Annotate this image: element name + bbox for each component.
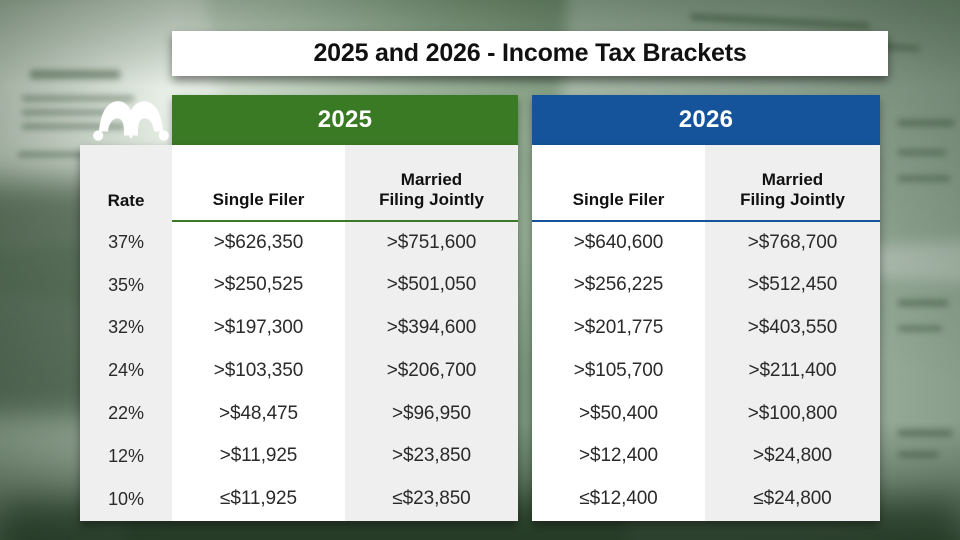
table-row: 24% >$103,350 >$206,700: [80, 349, 518, 392]
table-header-row: Rate Single Filer Married Filing Jointly: [80, 145, 518, 221]
cell-married-filing-jointly: >$403,550: [705, 307, 880, 350]
cell-single-filer: >$48,475: [172, 392, 345, 435]
cell-married-filing-jointly: >$96,950: [345, 392, 518, 435]
cell-married-filing-jointly: >$23,850: [345, 435, 518, 478]
table-header-row: Single Filer Married Filing Jointly: [532, 145, 880, 221]
cell-rate: 24%: [80, 349, 172, 392]
cell-single-filer: >$256,225: [532, 264, 705, 307]
cell-rate: 12%: [80, 435, 172, 478]
table-row: >$640,600 >$768,700: [532, 221, 880, 264]
cell-rate: 10%: [80, 478, 172, 521]
year-label-2025: 2025: [318, 106, 373, 134]
cell-married-filing-jointly: >$394,600: [345, 307, 518, 350]
tax-bracket-table-2025: Rate Single Filer Married Filing Jointly…: [80, 145, 518, 521]
cell-single-filer: ≤$11,925: [172, 478, 345, 521]
column-header-married-filing-jointly-2025: Married Filing Jointly: [345, 145, 518, 221]
cell-married-filing-jointly: >$100,800: [705, 392, 880, 435]
table-row: ≤$12,400 ≤$24,800: [532, 478, 880, 521]
cell-married-filing-jointly: >$751,600: [345, 221, 518, 264]
cell-rate: 35%: [80, 264, 172, 307]
cell-single-filer: >$103,350: [172, 349, 345, 392]
cell-married-filing-jointly: ≤$23,850: [345, 478, 518, 521]
cell-single-filer: >$12,400: [532, 435, 705, 478]
year-label-2026: 2026: [679, 106, 734, 134]
motley-fool-jester-cap-logo: [89, 98, 172, 146]
column-header-married-line1: Married: [401, 170, 462, 189]
column-header-single-filer-2025: Single Filer: [172, 145, 345, 221]
cell-married-filing-jointly: >$24,800: [705, 435, 880, 478]
column-header-rate: Rate: [80, 145, 172, 221]
table-row: >$201,775 >$403,550: [532, 307, 880, 350]
cell-single-filer: >$201,775: [532, 307, 705, 350]
column-header-married-filing-jointly-2026: Married Filing Jointly: [705, 145, 880, 221]
year-header-2026: 2026: [532, 95, 880, 145]
table-2025: Rate Single Filer Married Filing Jointly…: [80, 145, 518, 521]
cell-married-filing-jointly: >$206,700: [345, 349, 518, 392]
cell-single-filer: >$11,925: [172, 435, 345, 478]
column-header-single-filer-label: Single Filer: [213, 190, 305, 209]
table-row: 12% >$11,925 >$23,850: [80, 435, 518, 478]
table-row: 22% >$48,475 >$96,950: [80, 392, 518, 435]
cell-single-filer: >$250,525: [172, 264, 345, 307]
table-row: 32% >$197,300 >$394,600: [80, 307, 518, 350]
cell-married-filing-jointly: >$211,400: [705, 349, 880, 392]
tax-bracket-table-2026: Single Filer Married Filing Jointly >$64…: [532, 145, 880, 521]
cell-married-filing-jointly: >$512,450: [705, 264, 880, 307]
table-row: 37% >$626,350 >$751,600: [80, 221, 518, 264]
cell-rate: 32%: [80, 307, 172, 350]
cell-single-filer: >$197,300: [172, 307, 345, 350]
cell-married-filing-jointly: >$768,700: [705, 221, 880, 264]
cell-rate: 37%: [80, 221, 172, 264]
cell-married-filing-jointly: ≤$24,800: [705, 478, 880, 521]
table-row: 35% >$250,525 >$501,050: [80, 264, 518, 307]
page-title: 2025 and 2026 - Income Tax Brackets: [313, 39, 746, 68]
column-header-married-line1: Married: [762, 170, 823, 189]
cell-single-filer: >$640,600: [532, 221, 705, 264]
cell-rate: 22%: [80, 392, 172, 435]
cell-single-filer: >$105,700: [532, 349, 705, 392]
table-row: >$256,225 >$512,450: [532, 264, 880, 307]
column-header-married-line2: Filing Jointly: [740, 190, 845, 209]
cell-single-filer: >$50,400: [532, 392, 705, 435]
cell-single-filer: >$626,350: [172, 221, 345, 264]
table-row: >$105,700 >$211,400: [532, 349, 880, 392]
cell-married-filing-jointly: >$501,050: [345, 264, 518, 307]
column-header-single-filer-label: Single Filer: [573, 190, 665, 209]
cell-single-filer: ≤$12,400: [532, 478, 705, 521]
year-header-2025: 2025: [172, 95, 518, 145]
table-row: >$12,400 >$24,800: [532, 435, 880, 478]
column-header-single-filer-2026: Single Filer: [532, 145, 705, 221]
page-title-bar: 2025 and 2026 - Income Tax Brackets: [172, 31, 888, 76]
table-row: 10% ≤$11,925 ≤$23,850: [80, 478, 518, 521]
table-row: >$50,400 >$100,800: [532, 392, 880, 435]
column-header-married-line2: Filing Jointly: [379, 190, 484, 209]
table-2026: Single Filer Married Filing Jointly >$64…: [532, 145, 880, 521]
